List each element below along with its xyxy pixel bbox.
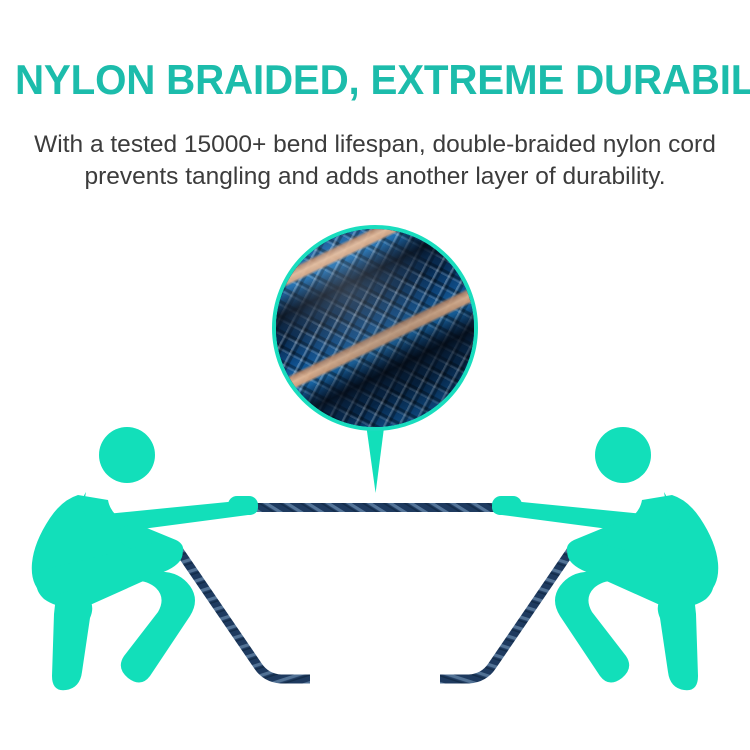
slack-rope-left <box>176 546 310 679</box>
product-feature-banner: NYLON BRAIDED, EXTREME DURABILITY With a… <box>0 0 750 750</box>
right-figure-front-leg <box>555 572 630 683</box>
left-figure-upper-hand <box>228 496 258 515</box>
tug-of-war-illustration <box>0 400 750 730</box>
subtitle-text: With a tested 15000+ bend lifespan, doub… <box>22 129 728 193</box>
left-figure-front-leg <box>120 572 195 683</box>
left-figure-back-leg <box>52 591 92 690</box>
rope-group <box>176 503 574 679</box>
left-figure <box>32 427 258 690</box>
right-figure-head <box>595 427 651 483</box>
callout-photo-shading <box>276 229 474 427</box>
page-title: NYLON BRAIDED, EXTREME DURABILITY <box>15 57 735 103</box>
right-figure-back-leg <box>658 591 698 690</box>
right-figure <box>492 427 718 690</box>
left-figure-head <box>99 427 155 483</box>
slack-rope-right <box>440 546 574 679</box>
right-figure-upper-hand <box>492 496 522 515</box>
taut-rope <box>253 503 498 512</box>
